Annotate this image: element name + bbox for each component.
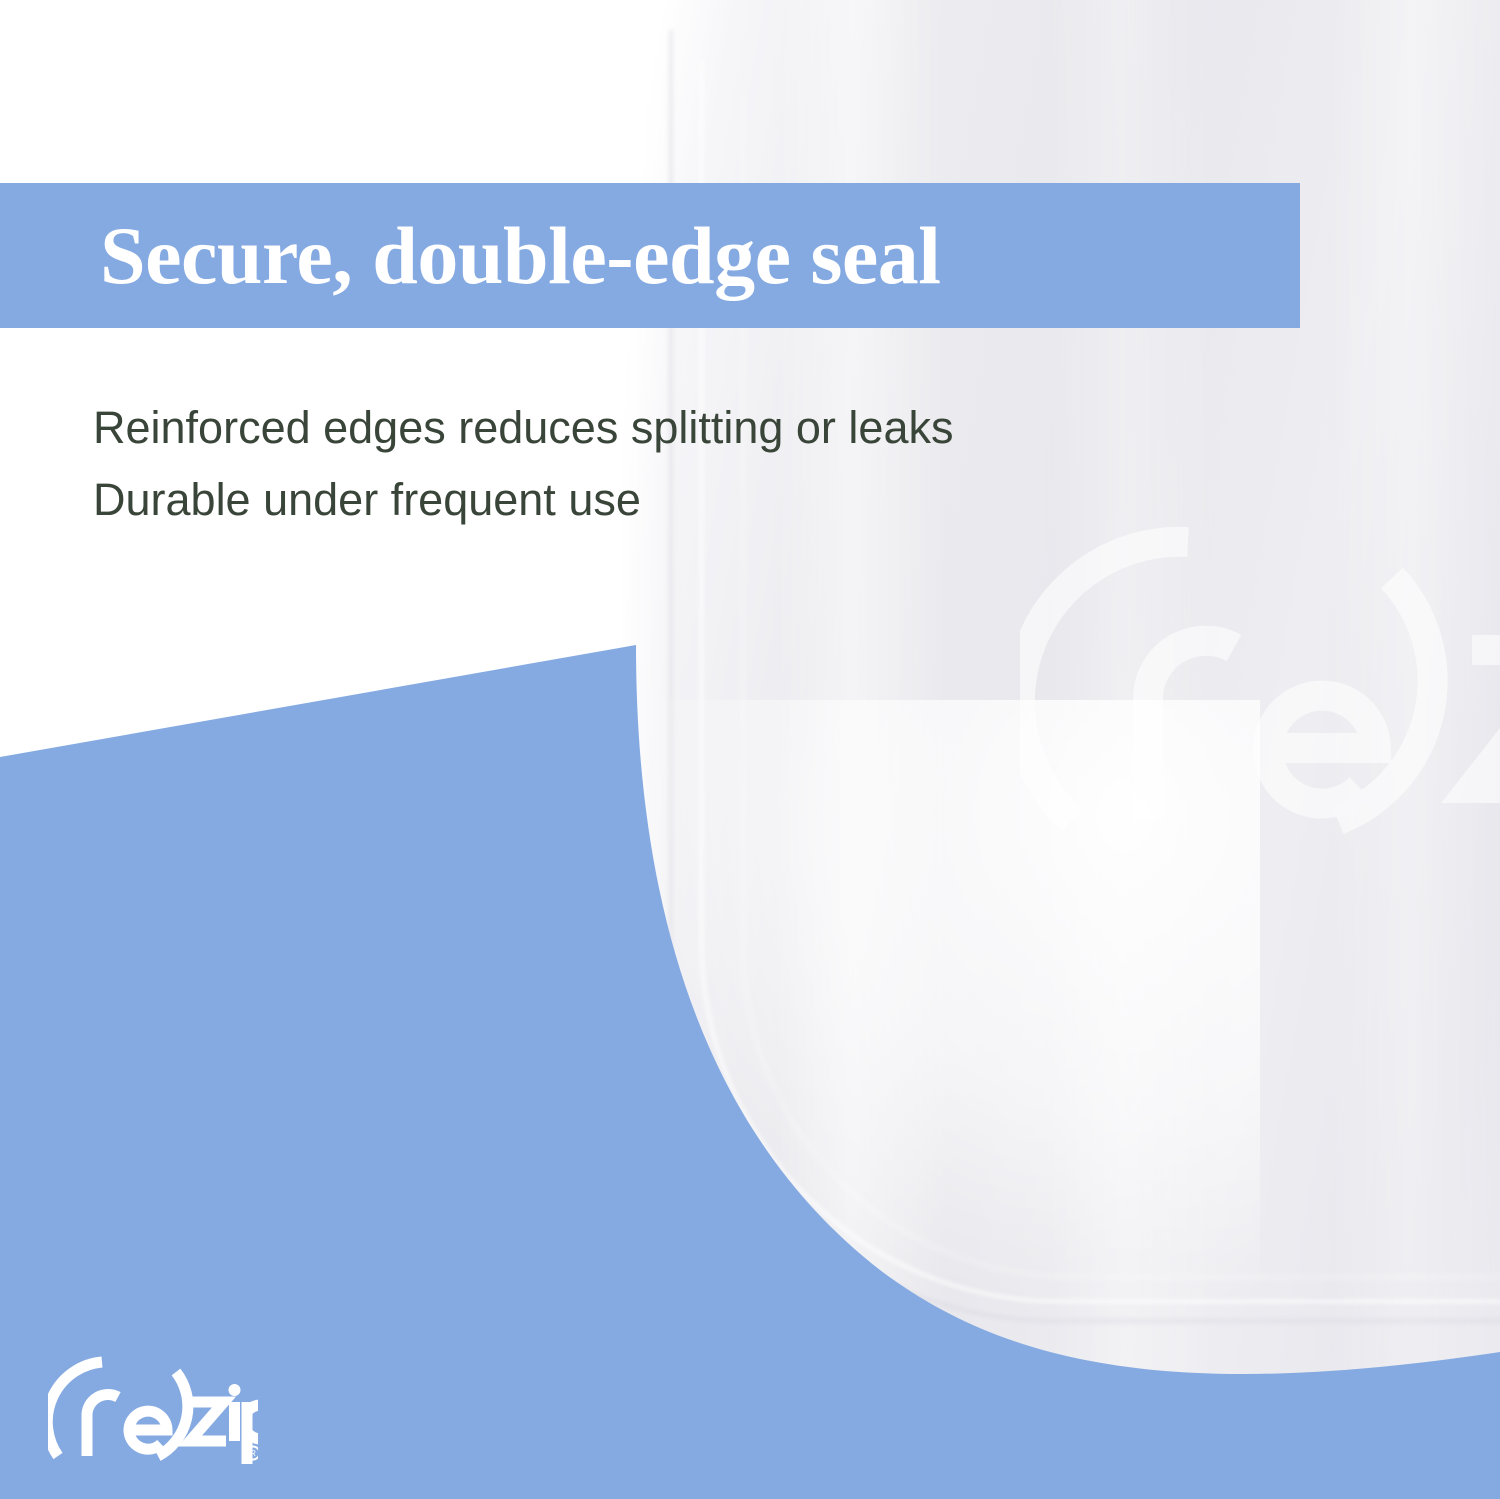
feature-line-1: Reinforced edges reduces splitting or le… [93, 392, 1203, 464]
headline-banner: Secure, double-edge seal [0, 183, 1300, 328]
product-feature-card: Secure, double-edge seal Reinforced edge… [0, 0, 1500, 1499]
feature-line-2: Durable under frequent use [93, 464, 1203, 536]
rezip-brand-watermark-icon [1020, 520, 1500, 860]
headline-text: Secure, double-edge seal [100, 215, 941, 297]
feature-list: Reinforced edges reduces splitting or le… [93, 392, 1203, 536]
registered-trademark-glyph: R [250, 1449, 256, 1458]
rezip-logo-icon: R [48, 1352, 258, 1470]
